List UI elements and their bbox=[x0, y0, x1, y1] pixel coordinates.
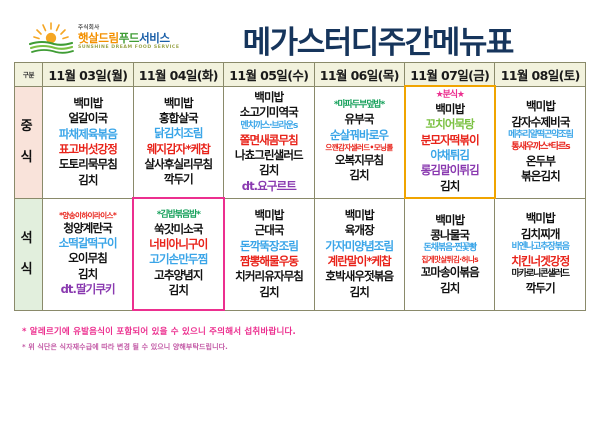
column-header-day-6: 11월 08일(토) bbox=[495, 63, 586, 87]
dish-item: 감자수제비국 bbox=[496, 115, 585, 130]
dish-item: 청양계란국 bbox=[43, 221, 132, 236]
logo-name-part1: 햇살드림 bbox=[78, 31, 119, 45]
dish-item: 김치 bbox=[315, 168, 404, 183]
menu-cell: 백미밥근대국돈깍뚝장조림짬뽕해물우동치커리유자무침김치 bbox=[224, 198, 314, 310]
dish-item: dt.요구르트 bbox=[224, 179, 313, 194]
table-row: 석식*양송이하이라이스*청양계란국소떡갈떡구이오이무침김치dt.딸기쿠키*김밥볶… bbox=[15, 198, 586, 310]
dish-item: 쑥갓미소국 bbox=[134, 222, 222, 237]
dish-item: 마카로니콘샐러드 bbox=[495, 269, 585, 281]
dish-item: 김치 bbox=[224, 163, 313, 178]
dish-item: 통새우까스*타르s bbox=[496, 142, 585, 154]
column-header-day-4: 11월 06일(목) bbox=[314, 63, 404, 87]
weekly-menu-table: 구분 11월 03일(월)11월 04일(화)11월 05일(수)11월 06일… bbox=[14, 62, 586, 311]
dish-item: 홍합살국 bbox=[134, 111, 223, 126]
table-body: 중식백미밥얼갈이국파채제육볶음표고버섯강정도토리묵무침김치백미밥홍합살국닭김치조… bbox=[15, 86, 586, 310]
dish-item: 웨지감자*케찹 bbox=[134, 142, 223, 157]
dish-item: 콩나물국 bbox=[405, 228, 494, 243]
page-title: 메가스터디주간메뉴표 bbox=[180, 17, 600, 62]
menu-cell: ★분식★백미밥꼬치어묵탕분모자떡볶이야채튀김롱김말이튀김김치 bbox=[405, 86, 495, 198]
dish-item: 집게맛살튀김·허니s bbox=[405, 255, 494, 265]
column-header-day-3: 11월 05일(수) bbox=[224, 63, 314, 87]
menu-cell: *마파두부덮밥*유부국순살꿔바로우으깬감자샐러드•모닝롤오복지무침김치 bbox=[314, 86, 404, 198]
dish-item: 파채제육볶음 bbox=[43, 127, 132, 142]
dish-item: 돈채볶음·찐꽃빵 bbox=[405, 243, 494, 255]
dish-item: 소떡갈떡구이 bbox=[43, 236, 132, 251]
dish-item: 백미밥 bbox=[315, 208, 404, 223]
dish-item: *김밥볶음밥* bbox=[134, 210, 222, 222]
column-header-label: 구분 bbox=[15, 63, 43, 87]
logo-name-part2: 푸드 bbox=[119, 31, 139, 45]
dish-item: 닭김치조림 bbox=[134, 126, 223, 141]
dish-item: 백미밥 bbox=[43, 96, 132, 111]
dish-item: 고기손만두찜 bbox=[134, 252, 222, 267]
dish-item: 고추양념지 bbox=[134, 268, 222, 283]
dish-item: 김치 bbox=[315, 285, 404, 300]
dish-item: 도토리묵무침 bbox=[43, 157, 132, 172]
menu-cell: 백미밥얼갈이국파채제육볶음표고버섯강정도토리묵무침김치 bbox=[43, 86, 133, 198]
dish-item: 얼갈이국 bbox=[43, 111, 132, 126]
logo-name-part3: 서비스 bbox=[139, 31, 170, 45]
dish-item: 계란말이*케찹 bbox=[315, 254, 404, 269]
company-logo: 주식회사 햇살드림푸드서비스 SUNSHINE DREAM FOOD SERVI… bbox=[28, 22, 180, 56]
dish-item: 가자미양념조림 bbox=[315, 239, 404, 254]
dish-item: 쫄면새콤무침 bbox=[224, 133, 313, 148]
dish-item: 김치 bbox=[405, 281, 494, 296]
dish-item: 백미밥 bbox=[406, 102, 494, 117]
dish-item: 나쵸그린샐러드 bbox=[224, 148, 313, 163]
dish-item: 오이무침 bbox=[43, 251, 132, 266]
menu-cell: *양송이하이라이스*청양계란국소떡갈떡구이오이무침김치dt.딸기쿠키 bbox=[43, 198, 133, 310]
page-header: 주식회사 햇살드림푸드서비스 SUNSHINE DREAM FOOD SERVI… bbox=[0, 0, 600, 62]
allergy-note: * 알레르기에 유발음식이 포함되어 있을 수 있으니 주의해서 섭취바랍니다. bbox=[22, 325, 600, 337]
dish-item: 오복지무침 bbox=[315, 153, 404, 168]
dish-item: 김치 bbox=[406, 179, 494, 194]
dish-item: 백미밥 bbox=[225, 208, 314, 223]
dish-item: 김치 bbox=[43, 173, 132, 188]
logo-wordmark: 주식회사 햇살드림푸드서비스 SUNSHINE DREAM FOOD SERVI… bbox=[78, 26, 180, 52]
dish-item: 호박새우젓볶음 bbox=[315, 269, 404, 284]
dish-item: 롱김말이튀김 bbox=[406, 163, 494, 178]
dish-item: 김치찌개 bbox=[495, 227, 585, 242]
dish-item: 김치 bbox=[225, 285, 314, 300]
dish-item: 백미밥 bbox=[134, 96, 223, 111]
menu-cell: 백미밥홍합살국닭김치조림웨지감자*케찹살사후실리무침깍두기 bbox=[133, 86, 223, 198]
menu-page: 주식회사 햇살드림푸드서비스 SUNSHINE DREAM FOOD SERVI… bbox=[0, 0, 600, 421]
dish-item: 볶은김치 bbox=[496, 169, 585, 184]
dish-item: 김치 bbox=[134, 283, 222, 298]
dish-item: 백미밥 bbox=[495, 211, 585, 226]
menu-cell: 백미밥소고기미역국멘치까스·브라운s쫄면새콤무침나쵸그린샐러드김치dt.요구르트 bbox=[224, 86, 314, 198]
dish-item: 치킨너겟강정 bbox=[495, 254, 585, 269]
column-header-day-1: 11월 03일(월) bbox=[43, 63, 133, 87]
table-head: 구분 11월 03일(월)11월 04일(화)11월 05일(수)11월 06일… bbox=[15, 63, 586, 87]
dish-item: 메추리알떡곤약조림 bbox=[496, 130, 585, 142]
dish-item: ★분식★ bbox=[406, 90, 494, 102]
dish-item: 꼬마송이볶음 bbox=[405, 265, 494, 280]
dish-item: 비엔나고추장볶음 bbox=[495, 242, 585, 254]
dish-item: 치커리유자무침 bbox=[225, 269, 314, 284]
dish-item: 백미밥 bbox=[405, 213, 494, 228]
dish-item: 유부국 bbox=[315, 112, 404, 127]
dish-item: 너비아니구이 bbox=[134, 237, 222, 252]
dish-item: 순살꿔바로우 bbox=[315, 128, 404, 143]
table-row: 중식백미밥얼갈이국파채제육볶음표고버섯강정도토리묵무침김치백미밥홍합살국닭김치조… bbox=[15, 86, 586, 198]
dish-item: 소고기미역국 bbox=[224, 105, 313, 120]
dish-item: 백미밥 bbox=[224, 90, 313, 105]
logo-name: 햇살드림푸드서비스 bbox=[78, 33, 180, 45]
menu-cell: 백미밥콩나물국돈채볶음·찐꽃빵집게맛살튀김·허니s꼬마송이볶음김치 bbox=[405, 198, 495, 310]
menu-cell: 백미밥육개장가자미양념조림계란말이*케찹호박새우젓볶음김치 bbox=[314, 198, 404, 310]
menu-cell: 백미밥김치찌개비엔나고추장볶음치킨너겟강정마카로니콘샐러드깍두기 bbox=[495, 198, 586, 310]
meal-row-label-dinner: 석식 bbox=[15, 198, 43, 310]
change-note: * 위 식단은 식자재수급에 따라 변경 될 수 있으니 양해부탁드립니다. bbox=[22, 342, 600, 352]
dish-item: 살사후실리무침 bbox=[134, 157, 223, 172]
header-row: 구분 11월 03일(월)11월 04일(화)11월 05일(수)11월 06일… bbox=[15, 63, 586, 87]
column-header-day-5: 11월 07일(금) bbox=[405, 63, 495, 87]
dish-item: 깍두기 bbox=[134, 172, 223, 187]
dish-item: dt.딸기쿠키 bbox=[43, 282, 132, 297]
dish-item: 온두부 bbox=[496, 154, 585, 169]
dish-item: 멘치까스·브라운s bbox=[224, 121, 313, 133]
dish-item: 표고버섯강정 bbox=[43, 142, 132, 157]
dish-item: 꼬치어묵탕 bbox=[406, 117, 494, 132]
logo-tagline: SUNSHINE DREAM FOOD SERVICE bbox=[78, 46, 180, 51]
dish-item: 백미밥 bbox=[496, 99, 585, 114]
dish-item: 근대국 bbox=[225, 223, 314, 238]
dish-item: *마파두부덮밥* bbox=[315, 100, 404, 112]
dish-item: *양송이하이라이스* bbox=[43, 211, 132, 221]
meal-row-label-lunch: 중식 bbox=[15, 86, 43, 198]
dish-item: 짬뽕해물우동 bbox=[225, 254, 314, 269]
menu-table-container: 구분 11월 03일(월)11월 04일(화)11월 05일(수)11월 06일… bbox=[0, 62, 600, 311]
dish-item: 으깬감자샐러드•모닝롤 bbox=[315, 143, 404, 153]
dish-item: 돈깍뚝장조림 bbox=[225, 239, 314, 254]
dish-item: 육개장 bbox=[315, 223, 404, 238]
dish-item: 김치 bbox=[43, 267, 132, 282]
menu-cell: *김밥볶음밥*쑥갓미소국너비아니구이고기손만두찜고추양념지김치 bbox=[133, 198, 223, 310]
menu-cell: 백미밥감자수제비국메추리알떡곤약조림통새우까스*타르s온두부볶은김치 bbox=[495, 86, 586, 198]
footnotes: * 알레르기에 유발음식이 포함되어 있을 수 있으니 주의해서 섭취바랍니다.… bbox=[0, 311, 600, 352]
dish-item: 야채튀김 bbox=[406, 148, 494, 163]
dish-item: 깍두기 bbox=[495, 281, 585, 296]
sun-over-field-logo-icon bbox=[28, 22, 74, 56]
column-header-day-2: 11월 04일(화) bbox=[133, 63, 223, 87]
dish-item: 분모자떡볶이 bbox=[406, 133, 494, 148]
